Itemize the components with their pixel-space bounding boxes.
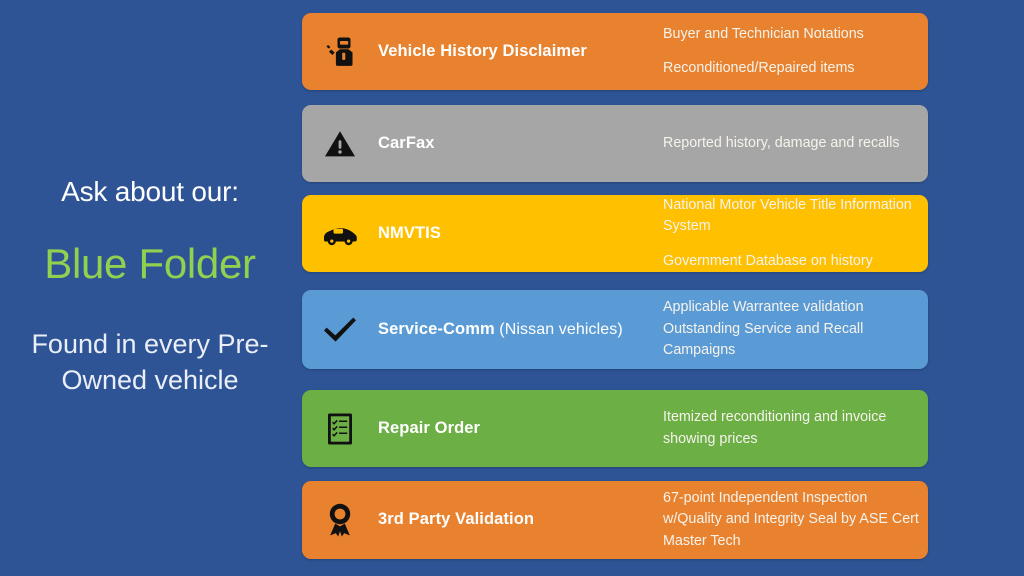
list-item-title: NMVTIS: [378, 224, 663, 244]
list-item-3rd-party-validation[interactable]: 3rd Party Validation 67-point Independen…: [302, 481, 928, 559]
description-line: Reconditioned/Repaired items: [663, 58, 920, 79]
description-line: Buyer and Technician Notations: [663, 24, 920, 45]
title-main: Vehicle History Disclaimer: [378, 42, 587, 60]
list-item-nmvtis[interactable]: NMVTIS National Motor Vehicle Title Info…: [302, 195, 928, 272]
list-item-vehicle-history-disclaimer[interactable]: Vehicle History Disclaimer Buyer and Tec…: [302, 13, 928, 90]
list-item-title: 3rd Party Validation: [378, 510, 663, 530]
description-line: Itemized reconditioning and invoice show…: [663, 407, 920, 450]
list-item-description: Applicable Warrantee validation Outstand…: [663, 297, 928, 361]
blue-folder-headline: Blue Folder: [44, 242, 255, 286]
list-item-title: CarFax: [378, 134, 663, 154]
list-item-description: Buyer and Technician Notations Reconditi…: [663, 24, 928, 80]
title-main: Service-Comm: [378, 320, 495, 338]
title-main: 3rd Party Validation: [378, 510, 534, 528]
list-item-title: Service-Comm (Nissan vehicles): [378, 320, 663, 340]
description-line: Government Database on history: [663, 251, 920, 272]
welder-icon: [302, 35, 378, 69]
description-line: 67-point Independent Inspection w/Qualit…: [663, 488, 920, 552]
list-item-carfax[interactable]: CarFax Reported history, damage and reca…: [302, 105, 928, 182]
description-line: Reported history, damage and recalls: [663, 133, 920, 154]
list-item-description: National Motor Vehicle Title Information…: [663, 195, 928, 272]
ask-about-our-label: Ask about our:: [61, 177, 239, 208]
found-in-every-preowned-vehicle-text: Found in every Pre-Owned vehicle: [25, 326, 275, 399]
list-item-description: 67-point Independent Inspection w/Qualit…: [663, 488, 928, 552]
title-main: Repair Order: [378, 419, 480, 437]
title-suffix: (Nissan vehicles): [495, 321, 623, 338]
title-main: CarFax: [378, 134, 435, 152]
list-item-title: Vehicle History Disclaimer: [378, 42, 663, 62]
checklist-clipboard-icon: [302, 411, 378, 447]
warning-triangle-icon: [302, 127, 378, 161]
description-line: National Motor Vehicle Title Information…: [663, 195, 920, 238]
award-ribbon-icon: [302, 501, 378, 539]
list-item-title: Repair Order: [378, 419, 663, 439]
list-item-service-comm[interactable]: Service-Comm (Nissan vehicles) Applicabl…: [302, 290, 928, 369]
list-item-description: Itemized reconditioning and invoice show…: [663, 407, 928, 450]
list-item-description: Reported history, damage and recalls: [663, 133, 928, 154]
checkmark-icon: [302, 314, 378, 346]
description-line: Applicable Warrantee validation Outstand…: [663, 297, 920, 361]
blue-folder-item-list: Vehicle History Disclaimer Buyer and Tec…: [302, 0, 928, 576]
left-text-column: Ask about our: Blue Folder Found in ever…: [0, 0, 300, 576]
title-main: NMVTIS: [378, 224, 441, 242]
list-item-repair-order[interactable]: Repair Order Itemized reconditioning and…: [302, 390, 928, 467]
car-icon: [302, 220, 378, 248]
